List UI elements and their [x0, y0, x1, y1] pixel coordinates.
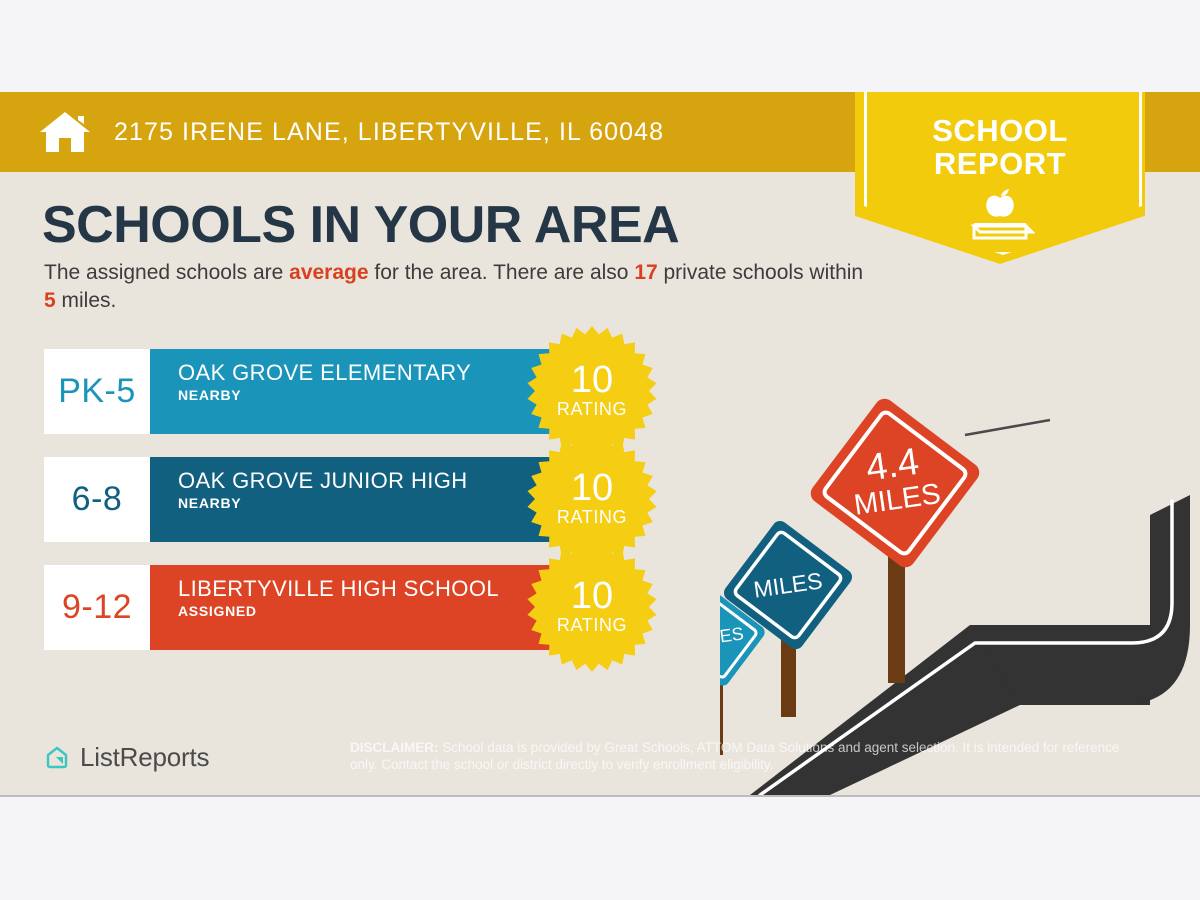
grade-range-label: 6-8 [72, 480, 123, 519]
page-title: SCHOOLS IN YOUR AREA [42, 197, 679, 253]
school-report-badge: SCHOOL REPORT [855, 92, 1145, 264]
badge-title-line2: REPORT [855, 147, 1145, 180]
school-row[interactable]: 6-8 OAK GROVE JUNIOR HIGH NEARBY 10 RATI… [44, 457, 684, 542]
school-row[interactable]: 9-12 LIBERTYVILLE HIGH SCHOOL ASSIGNED 1… [44, 565, 684, 650]
school-status: NEARBY [178, 495, 578, 511]
road-signs-illustration: 4.4 MILES MILES MILES [720, 375, 1200, 795]
listreports-wordmark: ListReports [80, 742, 209, 773]
school-name: OAK GROVE JUNIOR HIGH [178, 468, 578, 493]
school-status: NEARBY [178, 387, 578, 403]
school-name: LIBERTYVILLE HIGH SCHOOL [178, 576, 578, 601]
disclaimer-text: DISCLAIMER: School data is provided by G… [350, 739, 1140, 773]
badge-title: SCHOOL REPORT [855, 92, 1145, 180]
grade-range-box: PK-5 [44, 349, 150, 434]
starburst-shape [526, 541, 658, 673]
listreports-logo[interactable]: ListReports [44, 742, 209, 773]
school-bar: OAK GROVE JUNIOR HIGH NEARBY [150, 457, 578, 542]
summary-highlight-miles: 5 [44, 289, 56, 312]
school-name: OAK GROVE ELEMENTARY [178, 360, 578, 385]
infographic-page: 2175 IRENE LANE, LIBERTYVILLE, IL 60048 … [0, 0, 1200, 900]
grade-range-box: 6-8 [44, 457, 150, 542]
summary-part-2: for the area. There are also [369, 261, 635, 284]
school-row[interactable]: PK-5 OAK GROVE ELEMENTARY NEARBY 10 RATI… [44, 349, 684, 434]
rating-seal: 10 RATING [526, 541, 658, 673]
school-list: PK-5 OAK GROVE ELEMENTARY NEARBY 10 RATI… [44, 349, 684, 673]
badge-title-line1: SCHOOL [855, 114, 1145, 147]
summary-highlight-count: 17 [634, 261, 657, 284]
school-bar: OAK GROVE ELEMENTARY NEARBY [150, 349, 578, 434]
school-bar: LIBERTYVILLE HIGH SCHOOL ASSIGNED [150, 565, 578, 650]
summary-part-4: miles. [56, 289, 117, 312]
grade-range-label: 9-12 [62, 588, 132, 627]
summary-part-3: private schools within [658, 261, 863, 284]
summary-part-1: The assigned schools are [44, 261, 289, 284]
school-status: ASSIGNED [178, 603, 578, 619]
disclaimer-label: DISCLAIMER: [350, 740, 439, 755]
listreports-house-icon [44, 745, 70, 771]
report-card: 2175 IRENE LANE, LIBERTYVILLE, IL 60048 … [0, 92, 1200, 797]
apple-on-books-icon [957, 186, 1043, 242]
summary-text: The assigned schools are average for the… [44, 259, 864, 315]
home-icon [38, 110, 92, 154]
grade-range-label: PK-5 [58, 372, 136, 411]
summary-highlight-average: average [289, 261, 368, 284]
grade-range-box: 9-12 [44, 565, 150, 650]
property-address: 2175 IRENE LANE, LIBERTYVILLE, IL 60048 [114, 118, 664, 147]
disclaimer-body: School data is provided by Great Schools… [350, 740, 1119, 772]
